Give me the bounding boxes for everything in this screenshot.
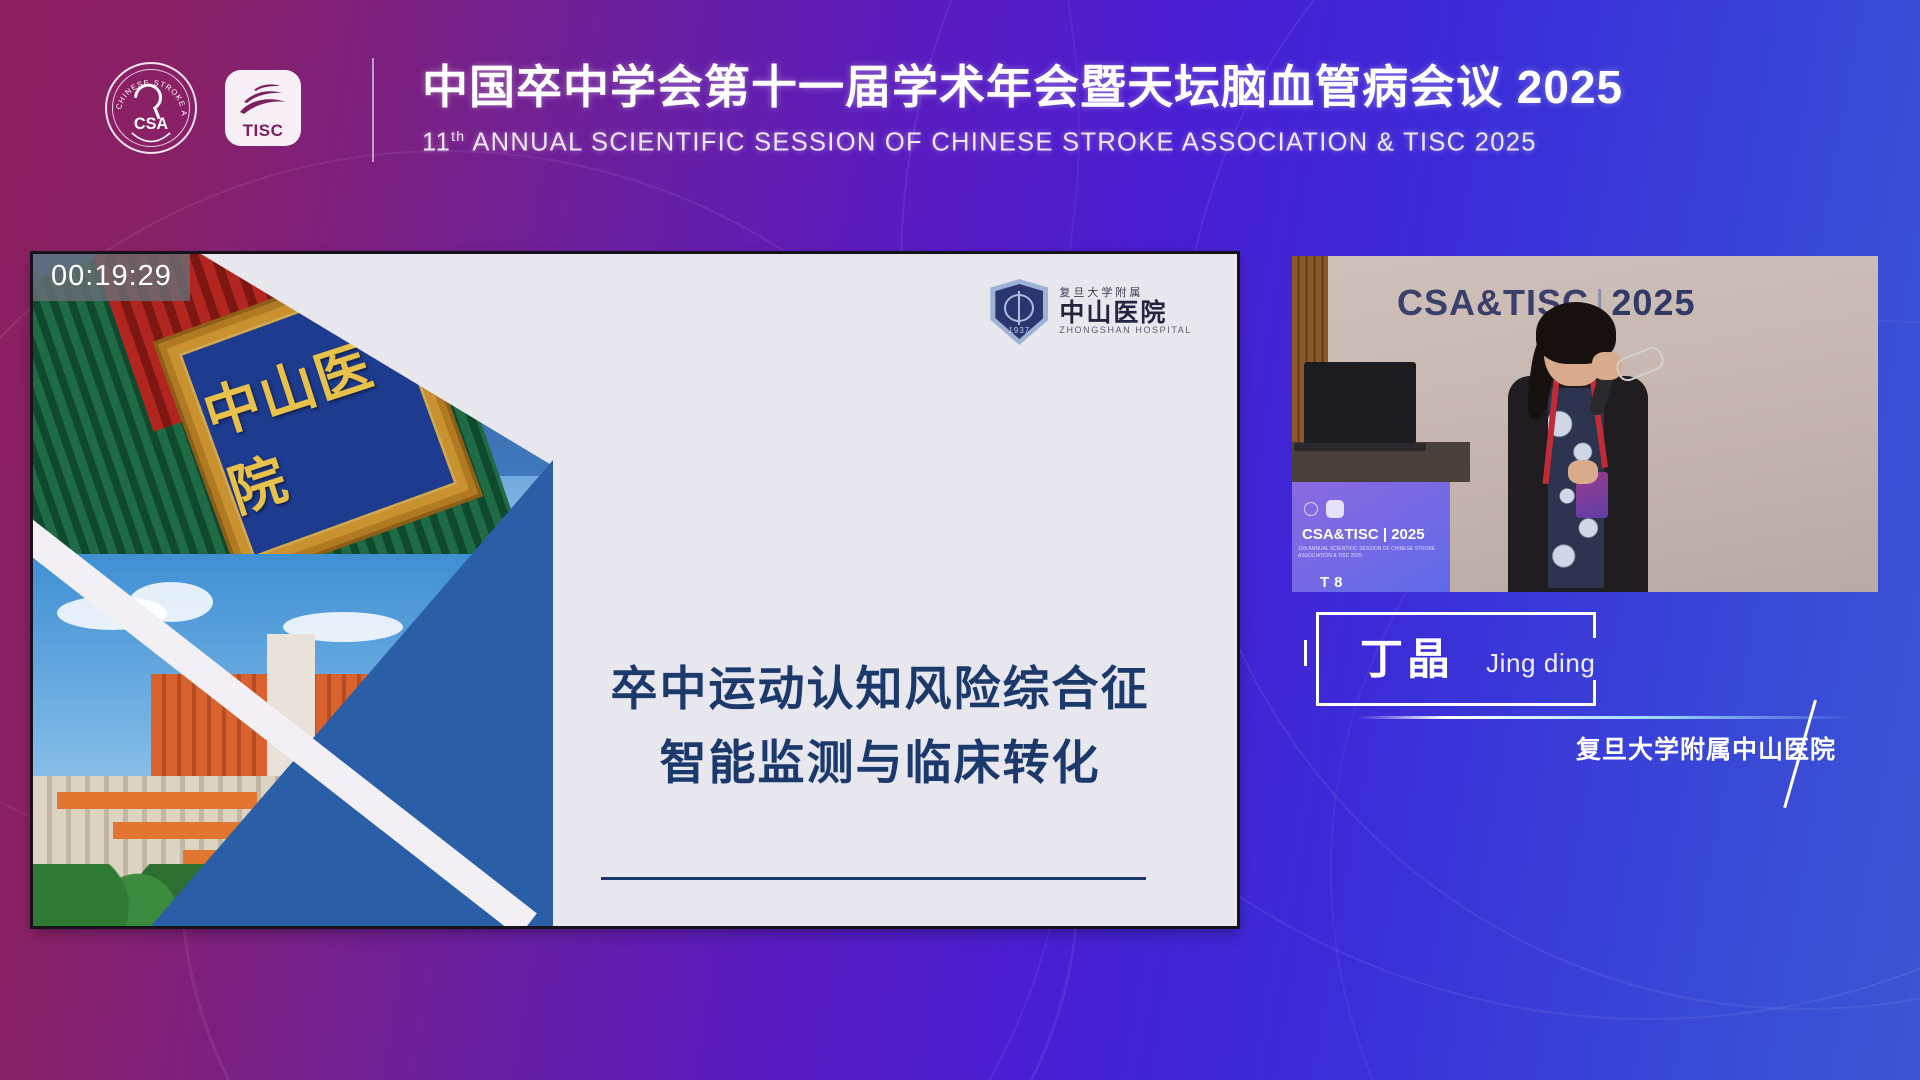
name-card-tick: [1304, 640, 1307, 666]
hospital-logo-text: 复旦大学附属 中山医院 ZHONGSHAN HOSPITAL: [1059, 288, 1192, 335]
zhongshan-hospital-logo: 1937 复旦大学附属 中山医院 ZHONGSHAN HOSPITAL: [990, 279, 1192, 345]
conference-title-en-prefix: 11: [422, 129, 451, 157]
monitor-room-label: T8: [1320, 574, 1348, 591]
header-logo-group: CHINESE STROKE ASSOCIATION CSA TISC: [105, 62, 301, 154]
speaker-name-card: 丁晶 Jing ding 复旦大学附属中山医院: [1316, 612, 1896, 792]
video-confidence-monitor: CSA&TISC | 2025 11th ANNUAL SCIENTIFIC S…: [1292, 482, 1450, 592]
monitor-tisc-icon: [1326, 500, 1344, 518]
video-speaker-figure: [1504, 310, 1654, 592]
shield-year: 1937: [990, 326, 1048, 335]
speaker-name-cn: 丁晶: [1360, 634, 1454, 686]
hospital-shield-icon: 1937: [990, 279, 1048, 345]
header-divider: [372, 58, 374, 162]
hospital-name-en: ZHONGSHAN HOSPITAL: [1059, 326, 1192, 335]
monitor-brand-text: CSA&TISC | 2025: [1302, 526, 1425, 543]
slide-title: 卒中运动认知风险综合征 智能监测与临床转化: [563, 652, 1197, 800]
hospital-name-cn: 中山医院: [1059, 300, 1192, 326]
svg-text:CSA: CSA: [134, 115, 169, 133]
session-timer: 00:19:29: [33, 254, 190, 301]
video-laptop: [1304, 362, 1416, 444]
monitor-subtitle-text: 11th ANNUAL SCIENTIFIC SESSION OF CHINES…: [1298, 546, 1450, 560]
csa-logo-icon: CHINESE STROKE ASSOCIATION CSA: [105, 62, 197, 154]
name-card-underline: [1356, 716, 1856, 719]
speaker-organization: 复旦大学附属中山医院: [1316, 730, 1836, 766]
tisc-wave-graphic: [234, 78, 292, 122]
shield-emblem: [1004, 294, 1034, 322]
conference-title-en: 11th ANNUAL SCIENTIFIC SESSION OF CHINES…: [422, 116, 1623, 163]
svg-text:CHINESE STROKE ASSOCIATION: CHINESE STROKE ASSOCIATION: [107, 64, 189, 117]
slide-title-rule: [601, 877, 1146, 880]
speaker-name-en: Jing ding: [1486, 648, 1595, 679]
header-title-block: 中国卒中学会第十一届学术年会暨天坛脑血管病会议 2025 11th ANNUAL…: [422, 58, 1623, 163]
tisc-logo-label: TISC: [243, 121, 284, 141]
speaker-video-feed[interactable]: CSA&TISC|2025 CSA&TISC | 2025 11th ANNUA…: [1292, 256, 1878, 592]
slide-title-line-2: 智能监测与临床转化: [563, 726, 1197, 800]
photo-roof-1: [57, 792, 257, 809]
speaker-hand-lower: [1568, 460, 1598, 484]
conference-title-cn: 中国卒中学会第十一届学术年会暨天坛脑血管病会议 2025: [422, 58, 1623, 116]
csa-logo-graphic: CHINESE STROKE ASSOCIATION CSA: [107, 64, 195, 152]
presentation-slide-panel[interactable]: 中山医院 1937 复旦: [33, 254, 1237, 926]
conference-stream-stage: CHINESE STROKE ASSOCIATION CSA TISC 中国卒中…: [0, 0, 1920, 1080]
conference-title-en-sup: th: [451, 128, 465, 144]
monitor-csa-icon: [1304, 502, 1318, 516]
conference-header: CHINESE STROKE ASSOCIATION CSA TISC 中国卒中…: [0, 0, 1920, 205]
conference-title-en-rest: ANNUAL SCIENTIFIC SESSION OF CHINESE STR…: [465, 129, 1536, 157]
tisc-logo-icon: TISC: [225, 70, 301, 146]
slide-title-line-1: 卒中运动认知风险综合征: [563, 652, 1197, 726]
